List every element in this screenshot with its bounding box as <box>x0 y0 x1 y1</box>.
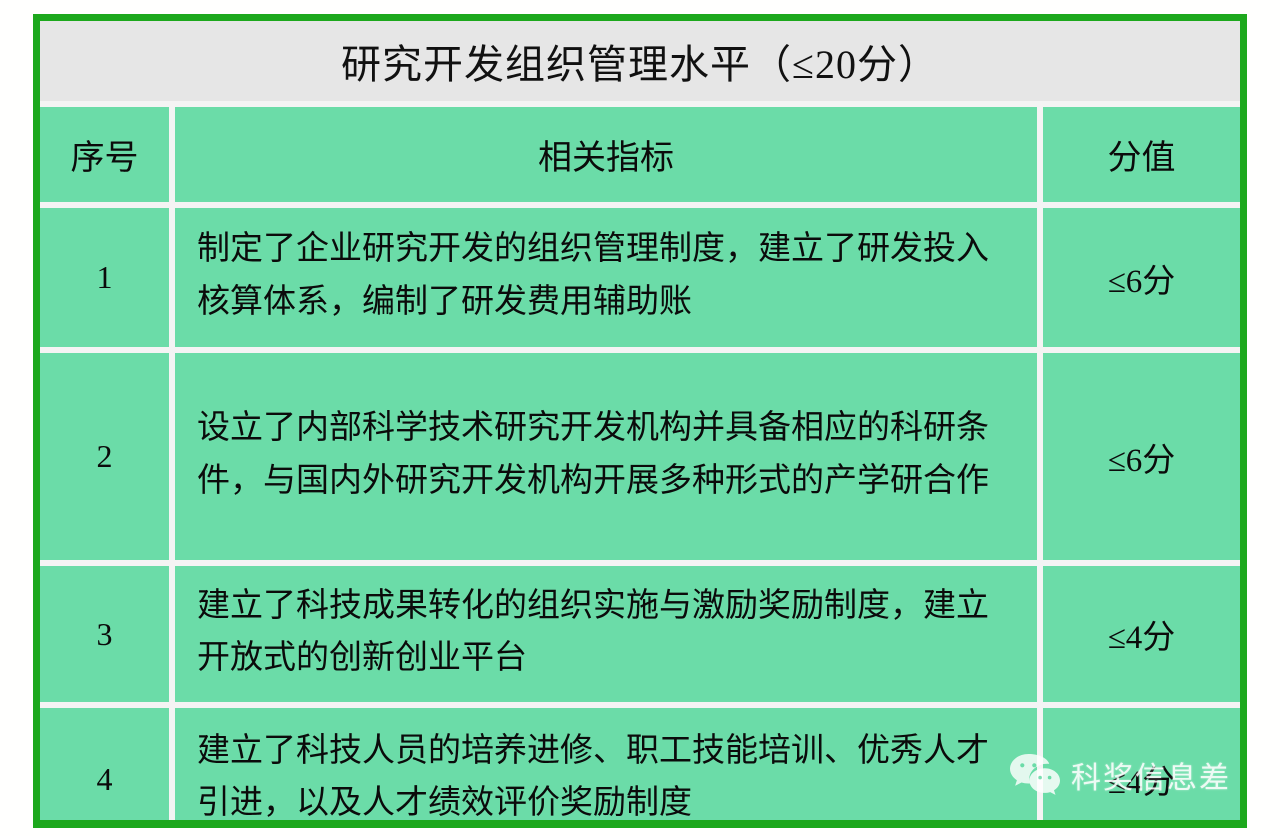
column-header-score: 分值 <box>1040 104 1240 205</box>
row-index: 4 <box>40 705 172 828</box>
table-title-cell: 研究开发组织管理水平（≤20分） <box>40 21 1240 104</box>
row-indicator: 制定了企业研究开发的组织管理制度，建立了研发投入核算体系，编制了研发费用辅助账 <box>172 205 1040 350</box>
column-header-indicator: 相关指标 <box>172 104 1040 205</box>
table-header-row: 序号 相关指标 分值 <box>40 104 1240 205</box>
row-index: 1 <box>40 205 172 350</box>
row-index: 3 <box>40 563 172 705</box>
row-index: 2 <box>40 350 172 563</box>
row-indicator: 建立了科技人员的培养进修、职工技能培训、优秀人才引进，以及人才绩效评价奖励制度 <box>172 705 1040 828</box>
table-row: 3 建立了科技成果转化的组织实施与激励奖励制度，建立开放式的创新创业平台 ≤4分 <box>40 563 1240 705</box>
row-indicator: 设立了内部科学技术研究开发机构并具备相应的科研条件，与国内外研究开发机构开展多种… <box>172 350 1040 563</box>
row-score: ≤6分 <box>1040 205 1240 350</box>
row-score: ≤4分 <box>1040 563 1240 705</box>
page-title: 研究开发组织管理水平（≤20分） <box>341 42 939 87</box>
table-row: 2 设立了内部科学技术研究开发机构并具备相应的科研条件，与国内外研究开发机构开展… <box>40 350 1240 563</box>
row-score: ≤6分 <box>1040 350 1240 563</box>
table-title-row: 研究开发组织管理水平（≤20分） <box>40 21 1240 104</box>
row-indicator: 建立了科技成果转化的组织实施与激励奖励制度，建立开放式的创新创业平台 <box>172 563 1040 705</box>
column-header-index: 序号 <box>40 104 172 205</box>
table-row: 4 建立了科技人员的培养进修、职工技能培训、优秀人才引进，以及人才绩效评价奖励制… <box>40 705 1240 828</box>
criteria-grid: 研究开发组织管理水平（≤20分） 序号 相关指标 分值 1 制定了企业研究开发的… <box>40 21 1240 828</box>
scoring-criteria-table: 研究开发组织管理水平（≤20分） 序号 相关指标 分值 1 制定了企业研究开发的… <box>33 14 1247 828</box>
row-score: ≤4分 <box>1040 705 1240 828</box>
table-row: 1 制定了企业研究开发的组织管理制度，建立了研发投入核算体系，编制了研发费用辅助… <box>40 205 1240 350</box>
page-root: 研究开发组织管理水平（≤20分） 序号 相关指标 分值 1 制定了企业研究开发的… <box>0 0 1280 836</box>
